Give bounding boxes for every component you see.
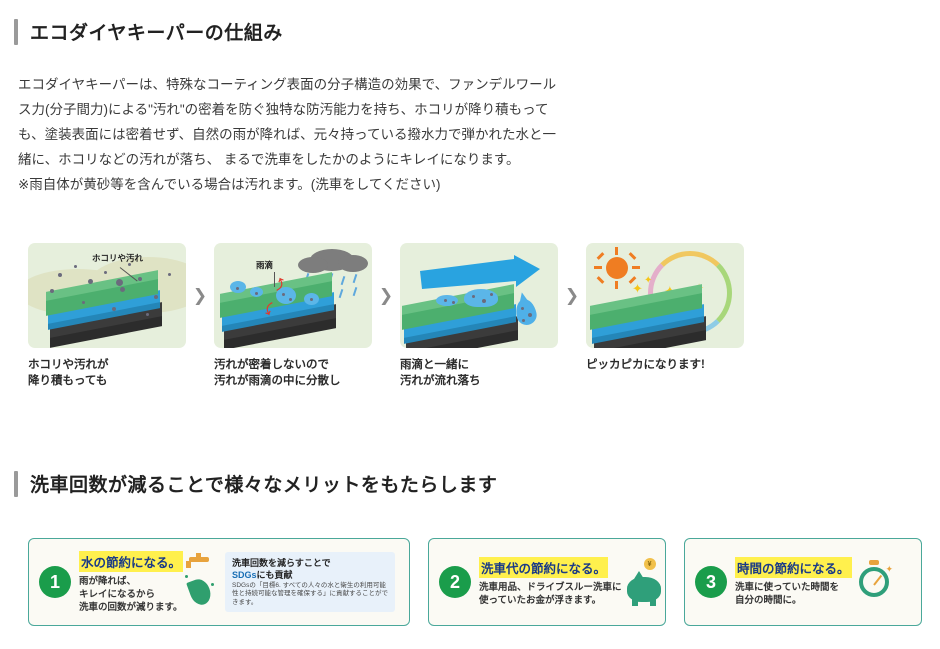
step1-caption-line1: ホコリや汚れが	[28, 357, 186, 373]
dust-particle	[289, 298, 292, 301]
step3-caption: 雨滴と一緒に 汚れが流れ落ち	[400, 357, 558, 389]
dust-particle	[88, 279, 93, 284]
dust-particle	[58, 273, 62, 277]
benefit-text-2: 洗車代の節約になる。 洗車用品、ドライブスルー洗車に 使っていたお金が浮きます。	[479, 557, 622, 607]
mechanism-step-1: ホコリや汚れ ホコリや汚れが 降り積もっても	[28, 243, 186, 389]
intro-paragraph: エコダイヤキーパーは、特殊なコーティング表面の分子構造の効果で、ファンデルワール…	[18, 72, 698, 197]
dust-particle	[310, 298, 313, 301]
dust-particle	[82, 301, 85, 304]
benefit-title-1: 水の節約になる。	[79, 551, 183, 572]
dust-particle	[146, 313, 149, 316]
dust-particle	[236, 287, 239, 290]
intro-line-2: ス力(分子間力)による"汚れ"の密着を防ぐ独特な防汚能力を持ち、ホコリが降り積も…	[18, 97, 698, 122]
benefit-cards: 1 水の節約になる。 雨が降れば、 キレイになるから 洗車の回数が減ります。 洗…	[28, 538, 922, 626]
benefit-title-2: 洗車代の節約になる。	[479, 557, 608, 578]
step4-caption-line1: ピッカピカになります!	[586, 357, 744, 373]
sun-ray	[632, 266, 640, 269]
piggy-leg	[650, 599, 656, 606]
dust-particle	[154, 295, 158, 299]
benefit-number-1: 1	[39, 566, 71, 598]
dust-particle	[490, 293, 493, 296]
sun-ray	[629, 252, 637, 260]
step2-caption: 汚れが密着しないので 汚れが雨滴の中に分散し	[214, 357, 372, 389]
step2-inline-label: 雨滴	[254, 258, 275, 272]
intro-line-1: エコダイヤキーパーは、特殊なコーティング表面の分子構造の効果で、ファンデルワール	[18, 72, 698, 97]
benefit-text-1: 水の節約になる。 雨が降れば、 キレイになるから 洗車の回数が減ります。	[79, 551, 183, 614]
sdg-body: SDGsの「目標6. すべての人々の水と衛生の利用可能性と持続可能な管理を確保す…	[232, 582, 388, 608]
dust-particle	[482, 299, 486, 303]
mechanism-step-3: 雨滴と一緒に 汚れが流れ落ち	[400, 243, 558, 389]
step1-inline-label: ホコリや汚れ	[92, 252, 143, 264]
step3-caption-line2: 汚れが流れ落ち	[400, 373, 558, 389]
chevron-right-icon-2: ❯	[372, 243, 400, 348]
benefit-card-2: 2 洗車代の節約になる。 洗車用品、ドライブスルー洗車に 使っていたお金が浮きま…	[428, 538, 666, 626]
sdg-keyword: SDGs	[232, 570, 257, 580]
intro-line-4: 緒に、ホコリなどの汚れが落ち、 まるで洗車をしたかのようにキレイになります。	[18, 147, 698, 172]
sdg-title-rest: にも貢献	[257, 570, 293, 580]
heading-accent-bar	[14, 19, 18, 45]
step1-caption-line2: 降り積もっても	[28, 373, 186, 389]
step4-illustration: ✦ ✦ ✦ ✦ ✦	[586, 243, 744, 348]
water-streak-large	[464, 289, 498, 307]
sdg-title-line2: SDGsにも貢献	[232, 569, 388, 581]
step3-illustration	[400, 243, 558, 348]
dust-particle	[50, 289, 54, 293]
benefit-body-2-line1: 洗車用品、ドライブスルー洗車に	[479, 581, 622, 594]
chevron-right-icon-1: ❯	[186, 243, 214, 348]
sun-ray	[615, 247, 618, 255]
dust-particle	[528, 313, 532, 317]
dust-particle	[452, 301, 455, 304]
step4-caption: ピッカピカになります!	[586, 357, 744, 373]
benefit-card-3: 3 時間の節約になる。 洗車に使っていた時間を 自分の時間に。 ✦	[684, 538, 922, 626]
step1-caption: ホコリや汚れが 降り積もっても	[28, 357, 186, 389]
benefit-body-3-line2: 自分の時間に。	[735, 594, 852, 607]
benefit-body-2-line2: 使っていたお金が浮きます。	[479, 594, 622, 607]
benefit-card-1: 1 水の節約になる。 雨が降れば、 キレイになるから 洗車の回数が減ります。 洗…	[28, 538, 410, 626]
mechanism-step-4: ✦ ✦ ✦ ✦ ✦ ピッカピカになります!	[586, 243, 744, 373]
section-heading-mechanism: エコダイヤキーパーの仕組み	[14, 18, 283, 45]
section-heading-benefits: 洗車回数が減ることで様々なメリットをもたらします	[14, 470, 497, 497]
sun-ray	[594, 266, 602, 269]
step1-illustration: ホコリや汚れ	[28, 243, 186, 348]
section2-title: 洗車回数が減ることで様々なメリットをもたらします	[30, 470, 497, 497]
intro-line-3: も、塗装表面には密着せず、自然の雨が降れば、元々持っている撥水力で弾かれた水と一	[18, 122, 698, 147]
stopwatch-crown	[869, 560, 879, 565]
heading-accent-bar-2	[14, 471, 18, 497]
water-saving-icon-group	[183, 551, 217, 613]
coin-icon: ¥	[644, 558, 656, 570]
faucet-stem	[196, 553, 201, 559]
dust-particle	[74, 265, 77, 268]
dust-particle	[521, 307, 524, 310]
rain-line	[353, 274, 357, 283]
step3-caption-line1: 雨滴と一緒に	[400, 357, 558, 373]
dust-particle	[522, 319, 525, 322]
intro-line-5: ※雨自体が黄砂等を含んでいる場合は汚れます。(洗車をしてください)	[18, 172, 698, 197]
dust-particle	[168, 273, 171, 276]
coating-layers	[590, 271, 716, 348]
dust-particle	[112, 307, 116, 311]
dust-particle	[104, 271, 107, 274]
benefit-number-2: 2	[439, 566, 471, 598]
rain-line	[353, 287, 357, 296]
benefit-title-3: 時間の節約になる。	[735, 557, 852, 578]
water-drop-leaf-icon	[186, 576, 214, 607]
dust-particle	[444, 299, 447, 302]
sun-ray	[597, 252, 605, 260]
benefit-text-3: 時間の節約になる。 洗車に使っていた時間を 自分の時間に。	[735, 557, 852, 607]
dust-particle	[282, 293, 285, 296]
splash-dot	[211, 583, 214, 586]
dust-particle	[120, 287, 125, 292]
section1-title: エコダイヤキーパーの仕組み	[30, 18, 283, 45]
benefit-body-1-line1: 雨が降れば、	[79, 575, 183, 588]
benefit-body-1-line2: キレイになるから	[79, 588, 183, 601]
water-streak	[436, 295, 458, 306]
benefit-body-1-line3: 洗車の回数が減ります。	[79, 601, 183, 614]
dust-particle-highlighted	[116, 279, 123, 286]
step2-caption-line1: 汚れが密着しないので	[214, 357, 372, 373]
dust-particle	[255, 292, 258, 295]
step2-caption-line2: 汚れが雨滴の中に分散し	[214, 373, 372, 389]
mechanism-step-2: ⤴ ⤴ 雨滴 汚れが密着しないので 汚れが雨滴の中に分散し	[214, 243, 372, 389]
splash-dot	[185, 575, 188, 578]
dust-particle	[472, 295, 475, 298]
piggy-leg	[632, 599, 638, 606]
sdg-callout: 洗車回数を減らすことで SDGsにも貢献 SDGsの「目標6. すべての人々の水…	[225, 552, 395, 613]
mechanism-step-strip: ホコリや汚れ ホコリや汚れが 降り積もっても ❯	[28, 243, 744, 389]
faucet-spout	[186, 561, 191, 568]
step2-illustration: ⤴ ⤴ 雨滴	[214, 243, 372, 348]
time-saving-icon-group: ✦	[852, 556, 896, 608]
money-saving-icon-group: ¥	[622, 554, 666, 610]
benefit-body-3-line1: 洗車に使っていた時間を	[735, 581, 852, 594]
product-info-page: エコダイヤキーパーの仕組み エコダイヤキーパーは、特殊なコーティング表面の分子構…	[0, 0, 940, 649]
benefit-number-3: 3	[695, 566, 727, 598]
chevron-right-icon-3: ❯	[558, 243, 586, 348]
coating-layers	[402, 271, 528, 348]
sparkle-icon: ✦	[886, 564, 894, 575]
dust-particle	[138, 277, 142, 281]
sdg-title-line1: 洗車回数を減らすことで	[232, 557, 388, 569]
